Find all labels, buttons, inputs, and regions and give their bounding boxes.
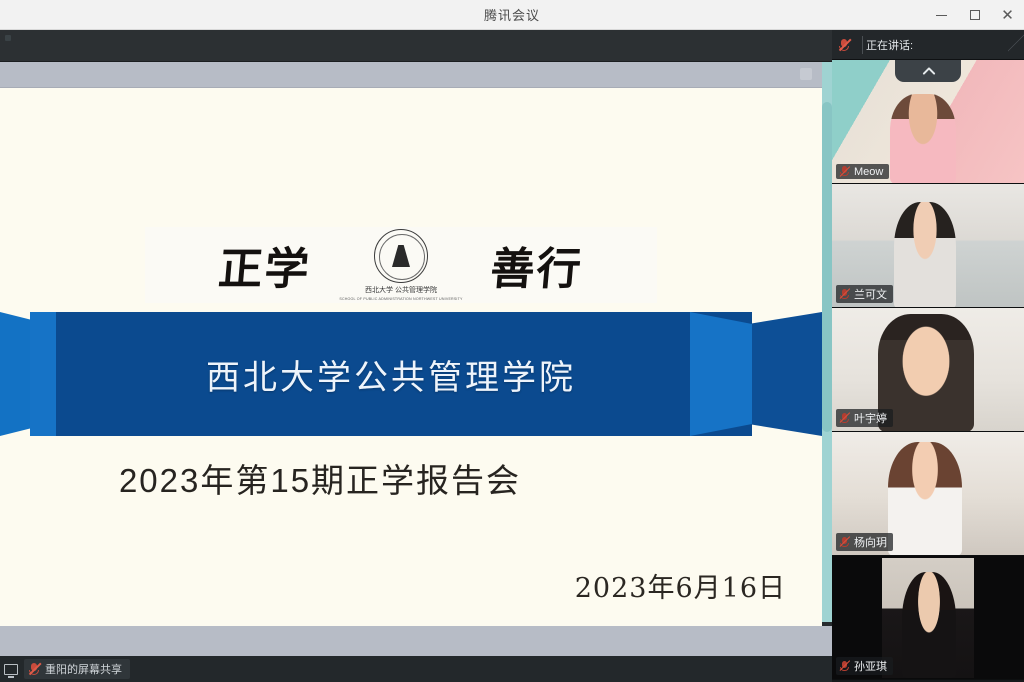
speaking-status-bar: 正在讲话: [832, 30, 1024, 60]
document-scrollbar-thumb[interactable] [822, 102, 832, 432]
seal-english-text: SCHOOL OF PUBLIC ADMINISTRATION NORTHWES… [339, 297, 462, 301]
window-controls: ✕ [925, 0, 1024, 30]
maximize-button[interactable] [958, 0, 991, 30]
minimize-button[interactable] [925, 0, 958, 30]
screen-share-label: 重阳的屏幕共享 [45, 661, 122, 677]
presentation-slide: 正学 西北大学 公共管理学院 SCHOOL OF PUBLIC ADMINIST… [0, 88, 822, 626]
document-toolbar[interactable] [0, 62, 822, 88]
mic-muted-icon [839, 165, 850, 178]
shared-app-titlebar [0, 30, 832, 62]
participant-name: 叶宇婷 [854, 410, 887, 426]
mic-muted-icon [839, 660, 850, 673]
mic-muted-icon [839, 536, 850, 549]
slide-calligraphy-banner: 正学 西北大学 公共管理学院 SCHOOL OF PUBLIC ADMINIST… [145, 227, 657, 303]
document-scrollbar-track[interactable] [822, 62, 832, 622]
shared-screen-area: 正学 西北大学 公共管理学院 SCHOOL OF PUBLIC ADMINIST… [0, 30, 832, 682]
participant-badge: 孙亚琪 [836, 657, 893, 675]
university-seal: 西北大学 公共管理学院 SCHOOL OF PUBLIC ADMINISTRAT… [339, 229, 462, 301]
participant-name: 孙亚琪 [854, 658, 887, 674]
toolbar-handle-icon[interactable] [800, 68, 812, 80]
mic-muted-icon [28, 662, 40, 676]
close-icon: ✕ [1001, 8, 1014, 23]
mic-muted-icon [839, 412, 850, 425]
participant-name: Meow [854, 166, 883, 178]
participant-tile[interactable]: 兰可文 [832, 184, 1024, 308]
seal-pagoda-icon [392, 245, 410, 267]
close-button[interactable]: ✕ [991, 0, 1024, 30]
slide-date: 2023年6月16日 [575, 566, 786, 605]
slide-title-ribbon: 西北大学公共管理学院 [0, 312, 822, 436]
participant-video [882, 558, 974, 678]
window-title: 腾讯会议 [484, 5, 540, 24]
header-divider [862, 36, 863, 54]
collapse-rail-button[interactable] [895, 60, 961, 82]
participant-badge: Meow [836, 164, 889, 179]
seal-emblem-icon [374, 229, 428, 283]
screen-share-taskbar-item[interactable]: 重阳的屏幕共享 [24, 659, 130, 679]
chevron-up-icon [921, 64, 935, 78]
maximize-icon [970, 10, 980, 20]
tencent-meeting-window: 腾讯会议 ✕ 正学 西北大学 公共管理学院 [0, 0, 1024, 682]
participant-tile[interactable]: 杨向玥 [832, 432, 1024, 556]
speaking-label: 正在讲话: [866, 37, 913, 53]
slide-banner-title: 西北大学公共管理学院 [30, 312, 752, 436]
participant-badge: 杨向玥 [836, 533, 893, 551]
minimize-icon [936, 15, 947, 16]
calligraphy-left-text: 正学 [217, 233, 315, 297]
participant-badge: 兰可文 [836, 285, 893, 303]
monitor-icon [4, 664, 18, 675]
participant-tile[interactable]: 孙亚琪 [832, 556, 1024, 680]
calligraphy-right-text: 善行 [488, 233, 586, 297]
resize-handle-icon[interactable] [1008, 30, 1024, 56]
mic-muted-icon[interactable] [838, 38, 850, 52]
mic-muted-icon [839, 288, 850, 301]
taskbar: 重阳的屏幕共享 [0, 656, 832, 682]
participant-tile[interactable]: 叶宇婷 [832, 308, 1024, 432]
shared-app-icon [5, 35, 11, 41]
participant-rail: 正在讲话: Meow 兰可文 叶宇婷 [832, 30, 1024, 682]
participant-name: 杨向玥 [854, 534, 887, 550]
slide-subtitle: 2023年第15期正学报告会 [0, 454, 640, 502]
participant-badge: 叶宇婷 [836, 409, 893, 427]
participant-name: 兰可文 [854, 286, 887, 302]
window-titlebar: 腾讯会议 ✕ [0, 0, 1024, 30]
seal-chinese-text: 西北大学 公共管理学院 [365, 285, 437, 295]
